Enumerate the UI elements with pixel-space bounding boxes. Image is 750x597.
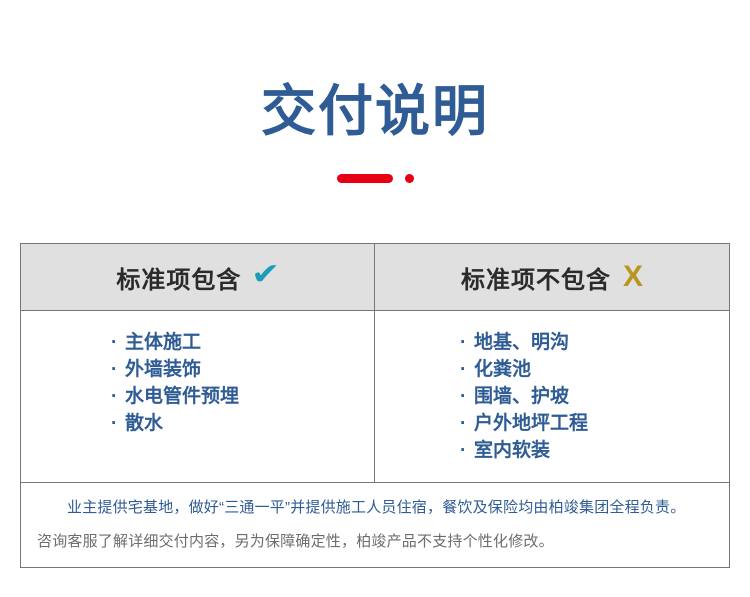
list-item: ·主体施工 xyxy=(111,329,374,356)
table-body-row: ·主体施工 ·外墙装饰 ·水电管件预埋 ·散水 ·地基、明沟 ·化粪池 ·围墙、… xyxy=(21,311,729,483)
list-item: ·外墙装饰 xyxy=(111,356,374,383)
list-item-label: 地基、明沟 xyxy=(474,332,569,353)
list-item-label: 散水 xyxy=(125,413,163,434)
title-divider xyxy=(0,172,750,184)
list-item: ·水电管件预埋 xyxy=(111,383,374,410)
included-items-list: ·主体施工 ·外墙装饰 ·水电管件预埋 ·散水 xyxy=(111,329,374,437)
list-item: ·围墙、护坡 xyxy=(460,383,729,410)
included-items-cell: ·主体施工 ·外墙装饰 ·水电管件预埋 ·散水 xyxy=(21,311,375,482)
footer-note: 业主提供宅基地，做好“三通一平”并提供施工人员住宿，餐饮及保险均由柏竣集团全程负… xyxy=(37,495,713,521)
list-item-label: 户外地坪工程 xyxy=(474,413,588,434)
list-item: ·室内软装 xyxy=(460,437,729,464)
divider-bar-icon xyxy=(337,174,393,183)
list-item-label: 室内软装 xyxy=(474,440,550,461)
list-item-label: 化粪池 xyxy=(474,359,531,380)
title-block: 交付说明 xyxy=(0,80,750,184)
table-footer-row: 业主提供宅基地，做好“三通一平”并提供施工人员住宿，餐饮及保险均由柏竣集团全程负… xyxy=(21,483,729,567)
bullet-icon: · xyxy=(460,383,474,410)
bullet-icon: · xyxy=(460,437,474,464)
delivery-instructions-page: 交付说明 标准项包含 ✔ 标准项不包含 X ·主体施工 ·外墙装饰 xyxy=(0,0,750,597)
list-item-label: 围墙、护坡 xyxy=(474,386,569,407)
check-icon: ✔ xyxy=(252,260,281,290)
cross-icon: X xyxy=(623,262,643,292)
list-item-label: 水电管件预埋 xyxy=(125,386,239,407)
bullet-icon: · xyxy=(460,329,474,356)
bullet-icon: · xyxy=(111,383,125,410)
bullet-icon: · xyxy=(111,356,125,383)
divider-dot-icon xyxy=(405,174,414,183)
list-item: ·散水 xyxy=(111,410,374,437)
table-header-excluded: 标准项不包含 X xyxy=(375,244,729,310)
list-item: ·地基、明沟 xyxy=(460,329,729,356)
list-item: ·户外地坪工程 xyxy=(460,410,729,437)
list-item-label: 主体施工 xyxy=(125,332,201,353)
bullet-icon: · xyxy=(460,356,474,383)
table-header-included: 标准项包含 ✔ xyxy=(21,244,375,310)
bullet-icon: · xyxy=(111,410,125,437)
footer-sub-note: 咨询客服了解详细交付内容，另为保障确定性，柏竣产品不支持个性化修改。 xyxy=(37,531,713,553)
excluded-items-list: ·地基、明沟 ·化粪池 ·围墙、护坡 ·户外地坪工程 ·室内软装 xyxy=(460,329,729,464)
list-item: ·化粪池 xyxy=(460,356,729,383)
page-title: 交付说明 xyxy=(0,80,750,142)
bullet-icon: · xyxy=(460,410,474,437)
bullet-icon: · xyxy=(111,329,125,356)
list-item-label: 外墙装饰 xyxy=(125,359,201,380)
table-header-row: 标准项包含 ✔ 标准项不包含 X xyxy=(21,244,729,311)
scope-comparison-table: 标准项包含 ✔ 标准项不包含 X ·主体施工 ·外墙装饰 ·水电管件预埋 ·散水 xyxy=(20,243,730,568)
excluded-header-label: 标准项不包含 xyxy=(461,260,611,295)
excluded-items-cell: ·地基、明沟 ·化粪池 ·围墙、护坡 ·户外地坪工程 ·室内软装 xyxy=(375,311,729,482)
included-header-label: 标准项包含 xyxy=(116,260,241,295)
